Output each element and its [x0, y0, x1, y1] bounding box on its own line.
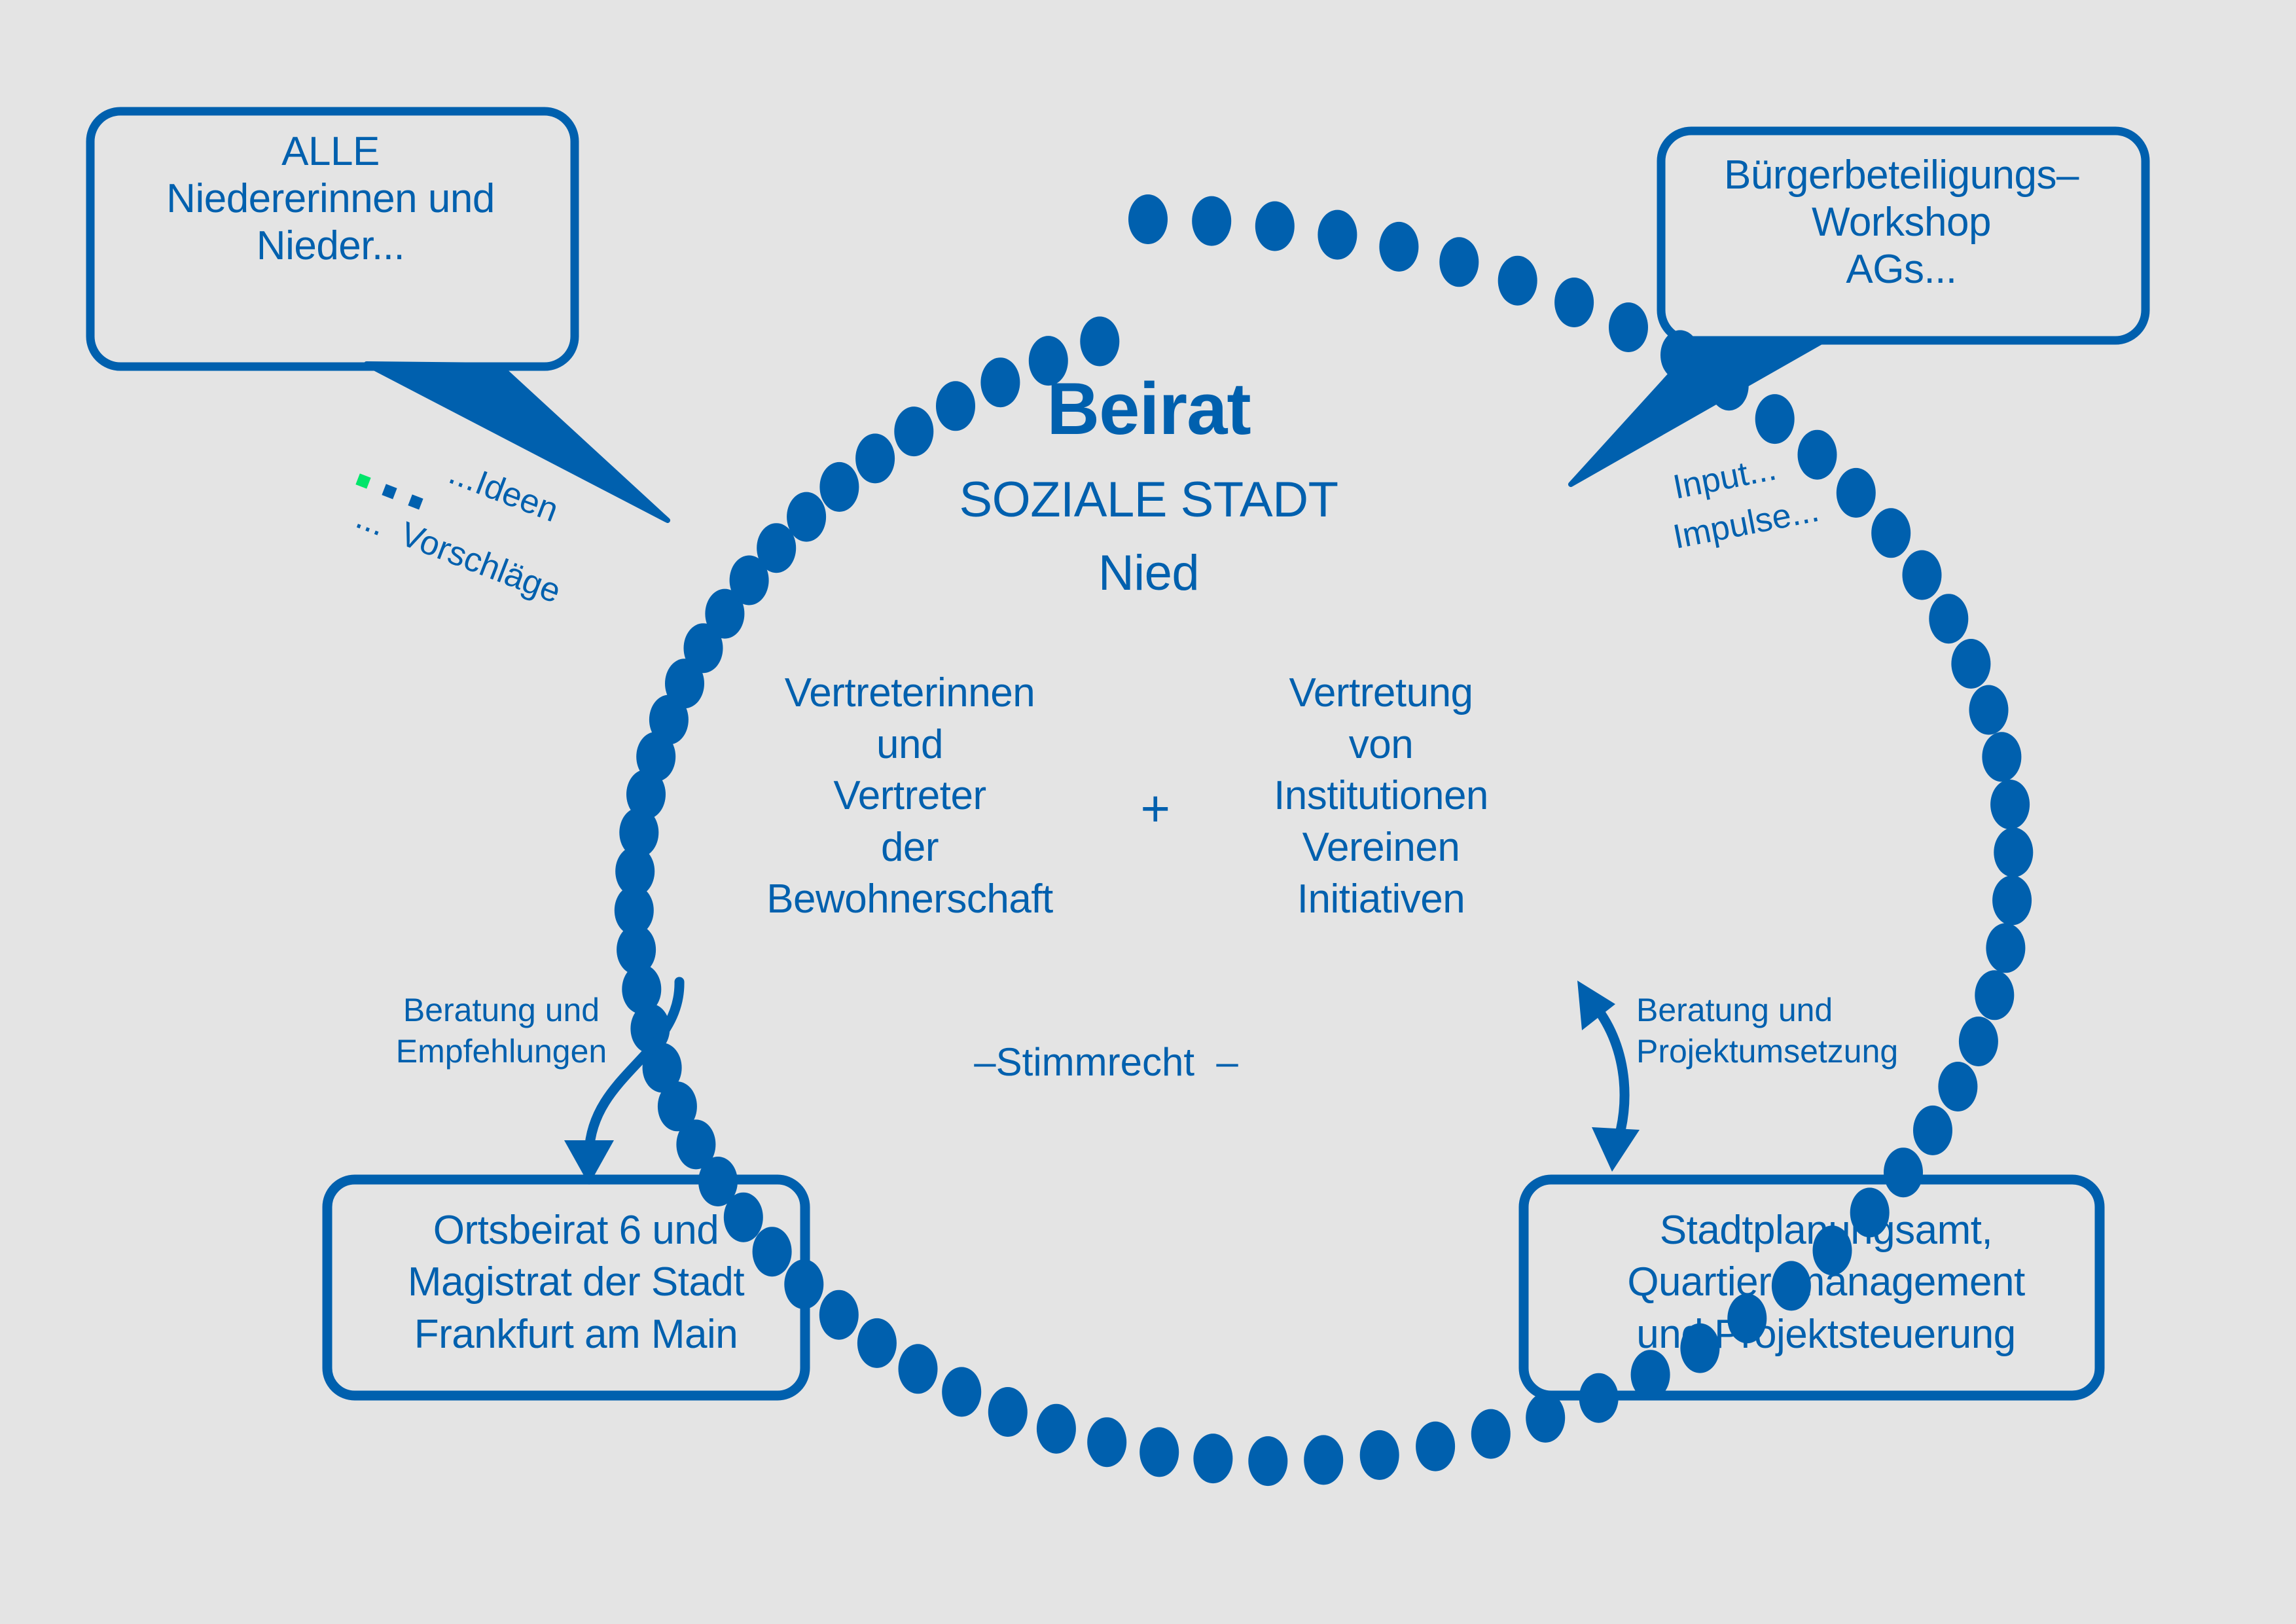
page-title: Beirat: [772, 367, 1525, 452]
bubble-left-label: ALLE Niedererinnen und Nieder...: [92, 128, 569, 270]
arrow-label-right: Beratung und Projektumsetzung: [1636, 990, 1950, 1072]
members-column-institutions: Vertretung von Institutionen Vereinen In…: [1198, 668, 1564, 926]
voting-rights-note: –Stimmrecht –: [890, 1039, 1322, 1085]
arrow-label-left: Beratung und Empfehlungen: [364, 990, 639, 1072]
box-right-label: Stadtplanungsamt, Quartiersmanagement un…: [1532, 1204, 2121, 1360]
bubble-right-label: Bürgerbeteiligungs– Workshop AGs...: [1662, 152, 2140, 293]
plus-icon: +: [1106, 779, 1204, 838]
box-left-label: Ortsbeirat 6 und Magistrat der Stadt Fra…: [340, 1204, 812, 1360]
arrow-right-double: [1577, 981, 1640, 1172]
diagram-canvas: ALLE Niedererinnen und Nieder... Bürgerb…: [0, 0, 2296, 1624]
subtitle-line-2: Nied: [772, 545, 1525, 602]
members-column-residents: Vertreterinnen und Vertreter der Bewohne…: [707, 668, 1113, 926]
subtitle-line-1: SOZIALE STADT: [772, 471, 1525, 529]
